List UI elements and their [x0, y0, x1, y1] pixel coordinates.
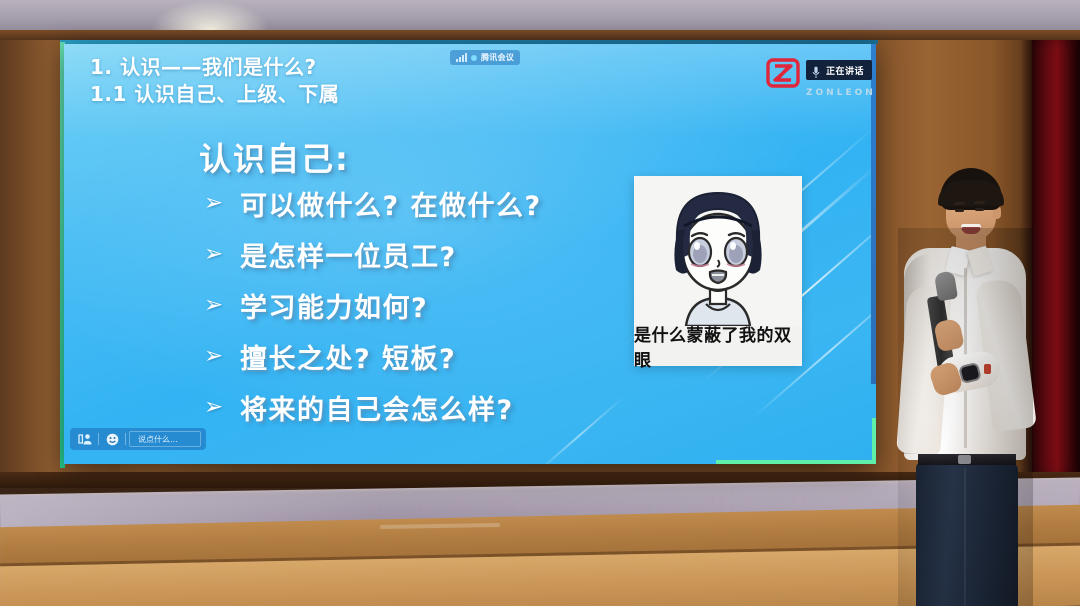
bullet-arrow-icon: ➢: [204, 345, 226, 368]
cartoon-girl-face-icon: [634, 176, 802, 326]
slide-bullet-list: ➢ 可以做什么? 在做什么? ➢ 是怎样一位员工? ➢ 学习能力如何? ➢ 擅长…: [204, 184, 644, 439]
list-item: ➢ 将来的自己会怎么样?: [204, 388, 644, 427]
emoji-smile-icon[interactable]: [99, 429, 125, 449]
meeting-chat-toolbar[interactable]: 说点什么...: [70, 428, 206, 450]
toolbar-divider: [125, 433, 126, 445]
brand-name: ZONLEON: [806, 88, 876, 98]
speaking-status-label: 正在讲话: [826, 64, 864, 77]
recording-dot-icon: [471, 55, 477, 61]
slide-title: 认识自己:: [199, 134, 350, 180]
speaking-status-badge: 正在讲话: [806, 60, 872, 80]
chat-input[interactable]: 说点什么...: [129, 431, 201, 447]
presenter-eye-left: [955, 209, 964, 212]
presenter-figure: [898, 168, 1033, 606]
bullet-arrow-icon: ➢: [204, 396, 226, 419]
presenter-hair-front: [938, 180, 1004, 206]
presenter-eyebrow-right: [974, 201, 985, 205]
stage-curtain: [1032, 36, 1080, 480]
bullet-text: 可以做什么? 在做什么?: [240, 184, 542, 223]
bullet-text: 将来的自己会怎么样?: [240, 388, 514, 427]
slide-header-line-2: 1.1 认识自己、上级、下属: [90, 81, 339, 108]
bullet-arrow-icon: ➢: [204, 243, 226, 266]
list-item: ➢ 擅长之处? 短板?: [204, 337, 644, 376]
slide-header-line-1: 1. 认识——我们是什么?: [90, 55, 317, 79]
list-item: ➢ 可以做什么? 在做什么?: [204, 184, 644, 223]
meeting-app-badge: 腾讯会议: [450, 50, 520, 65]
presenter-belt-buckle: [958, 455, 971, 464]
ceiling-spotlight: [150, 0, 270, 34]
zonleon-z-logo-icon: [766, 58, 800, 88]
presenter-eye-right: [975, 208, 984, 211]
participants-icon[interactable]: [72, 429, 98, 449]
signal-bars-icon: [456, 53, 467, 62]
auditorium-scene: 1. 认识——我们是什么? 1.1 认识自己、上级、下属 认识自己: ➢ 可以做…: [0, 0, 1080, 606]
bullet-text: 学习能力如何?: [240, 286, 428, 325]
screen-corner-accent: [716, 418, 876, 464]
bullet-text: 擅长之处? 短板?: [240, 337, 456, 376]
list-item: ➢ 是怎样一位员工?: [204, 235, 644, 274]
bullet-arrow-icon: ➢: [204, 192, 226, 215]
microphone-icon: [812, 64, 820, 77]
presenter-lapel-badge: [984, 364, 991, 374]
bullet-arrow-icon: ➢: [204, 294, 226, 317]
brand-block: 正在讲话 ZONLEON: [766, 56, 896, 104]
meeting-app-label: 腾讯会议: [481, 52, 514, 63]
presenter-trousers: [916, 462, 1018, 606]
list-item: ➢ 学习能力如何?: [204, 286, 644, 325]
projection-screen: 1. 认识——我们是什么? 1.1 认识自己、上级、下属 认识自己: ➢ 可以做…: [64, 44, 876, 464]
presenter-trouser-seam: [964, 468, 966, 606]
ceiling-trim: [0, 30, 1080, 40]
meme-artwork: [634, 176, 802, 326]
slide-header: 1. 认识——我们是什么? 1.1 认识自己、上级、下属: [90, 54, 339, 108]
slide-meme-image: 是什么蒙蔽了我的双眼: [634, 176, 802, 366]
bullet-text: 是怎样一位员工?: [240, 235, 457, 274]
meme-caption: 是什么蒙蔽了我的双眼: [634, 326, 802, 366]
